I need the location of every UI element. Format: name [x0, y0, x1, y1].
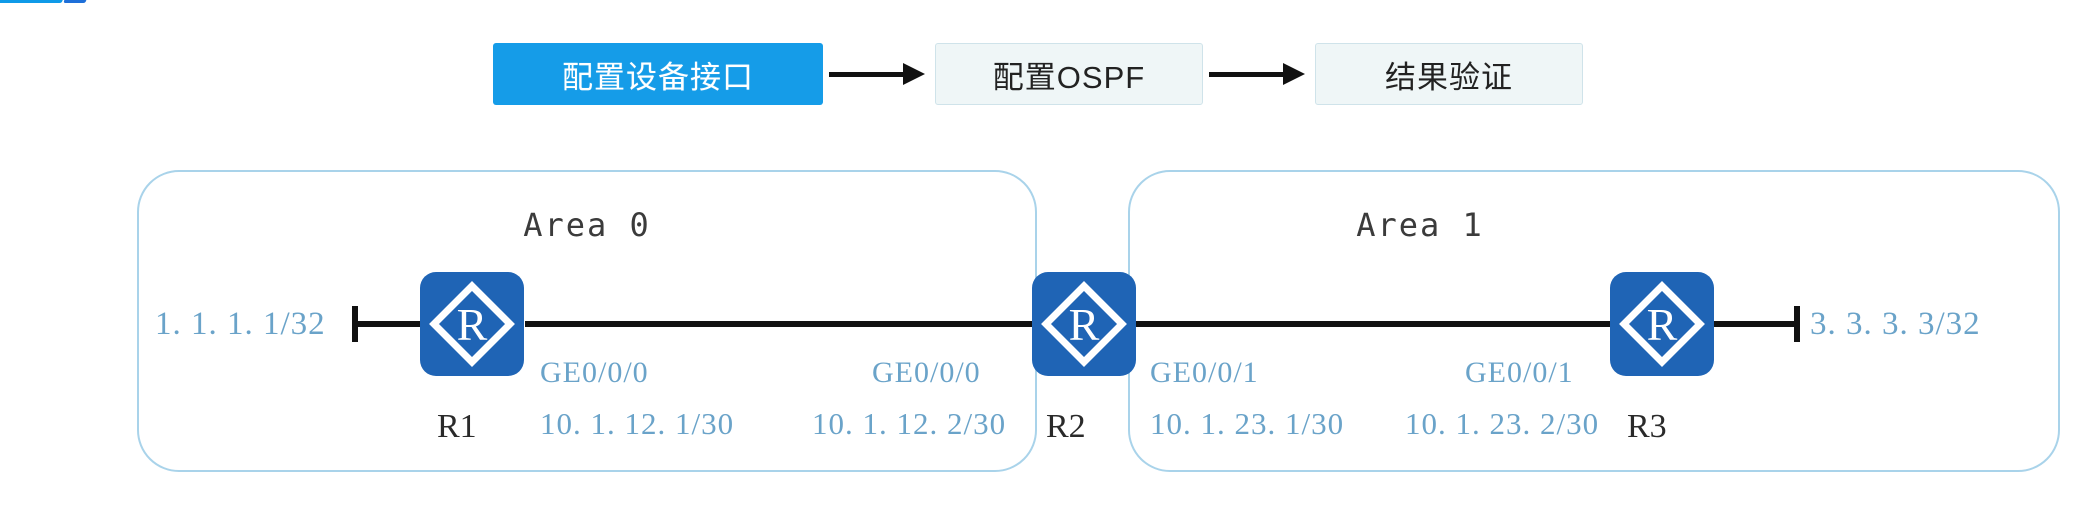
logo-bar-secondary — [63, 0, 90, 3]
link-r1-r2 — [525, 321, 1039, 327]
loopback-terminator-left — [352, 306, 358, 342]
flow-arrow-2-icon — [1203, 69, 1315, 79]
arrow-head — [1283, 63, 1305, 85]
loopback-terminator-right — [1794, 306, 1800, 342]
address-label-r1-ge000: 10. 1. 12. 1/30 — [540, 406, 734, 442]
address-label-r2-ge001: 10. 1. 23. 1/30 — [1150, 406, 1344, 442]
area-label-0: Area 0 — [407, 206, 767, 244]
arrow-head — [903, 63, 925, 85]
logo-bar-primary — [0, 0, 66, 3]
router-icon-r3[interactable]: R — [1610, 272, 1714, 376]
address-label-r3-ge001: 10. 1. 23. 2/30 — [1405, 406, 1599, 442]
area-label-1: Area 1 — [1240, 206, 1600, 244]
link-r2-r3 — [1120, 321, 1623, 327]
device-label-r2: R2 — [1046, 408, 1086, 446]
interface-label-r2-ge001: GE0/0/1 — [1150, 356, 1259, 390]
address-label-r2-ge000: 10. 1. 12. 2/30 — [812, 406, 1006, 442]
router-icon-r1[interactable]: R — [420, 272, 524, 376]
device-label-r3: R3 — [1627, 408, 1667, 446]
loopback-address-right: 3. 3. 3. 3/32 — [1810, 306, 1981, 343]
interface-label-r2-ge000: GE0/0/0 — [872, 356, 981, 390]
flow-arrow-1-icon — [823, 69, 935, 79]
svg-text:R: R — [1647, 299, 1678, 350]
loopback-stub-right — [1700, 321, 1800, 327]
arrow-shaft — [829, 72, 907, 77]
process-flow: 配置设备接口 配置OSPF 结果验证 — [0, 40, 2076, 108]
device-label-r1: R1 — [437, 408, 477, 446]
brand-logo-fragment — [0, 0, 96, 8]
step-result-verification[interactable]: 结果验证 — [1315, 43, 1583, 105]
interface-label-r3-ge001: GE0/0/1 — [1465, 356, 1574, 390]
interface-label-r1-ge000: GE0/0/0 — [540, 356, 649, 390]
arrow-shaft — [1209, 72, 1287, 77]
step-label: 结果验证 — [1385, 52, 1513, 97]
step-label: 配置OSPF — [993, 52, 1145, 97]
step-label: 配置设备接口 — [562, 52, 754, 97]
network-topology-diagram: Area 0 Area 1 R R R R1 R2 R3 1. 1. 1. 1/… — [0, 118, 2076, 498]
step-configure-device-interface[interactable]: 配置设备接口 — [493, 43, 823, 105]
svg-text:R: R — [1069, 299, 1100, 350]
router-icon-r2[interactable]: R — [1032, 272, 1136, 376]
svg-text:R: R — [457, 299, 488, 350]
loopback-address-left: 1. 1. 1. 1/32 — [155, 306, 326, 343]
step-configure-ospf[interactable]: 配置OSPF — [935, 43, 1203, 105]
